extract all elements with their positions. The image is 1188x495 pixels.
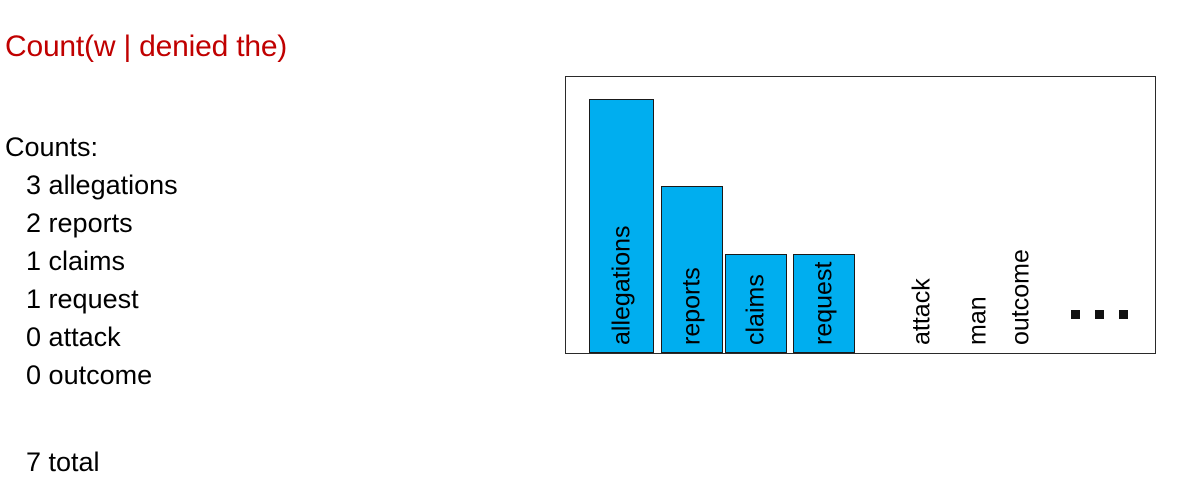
count-row: 0 outcome [5, 356, 178, 394]
count-row: 0 attack [5, 318, 178, 356]
bar-column: request [793, 254, 855, 353]
count-word: request [49, 284, 139, 314]
bar-chart: allegations reports claims request a [565, 76, 1156, 354]
total-count: 7 total [26, 443, 100, 481]
count-value: 2 [26, 208, 41, 238]
bar-label-text: allegations [609, 225, 634, 345]
ellipsis-dot [1119, 310, 1128, 319]
ellipsis-dot [1095, 310, 1104, 319]
bar-label-text: request [812, 262, 837, 345]
counts-panel: Counts: 3 allegations 2 reports 1 claims… [5, 128, 178, 394]
bar-column: reports [661, 186, 723, 353]
bar-label-text: reports [680, 267, 705, 345]
count-word: reports [49, 208, 133, 238]
count-value: 0 [26, 360, 41, 390]
count-value: 1 [26, 246, 41, 276]
ellipsis-icon [1071, 310, 1128, 319]
zero-count-label-text: man [966, 296, 991, 345]
zero-count-label-text: attack [910, 278, 935, 345]
count-row: 2 reports [5, 204, 178, 242]
count-value: 3 [26, 170, 41, 200]
plot-area: allegations reports claims request a [566, 77, 1155, 353]
count-word: outcome [49, 360, 153, 390]
count-row: 3 allegations [5, 166, 178, 204]
bar-label-text: claims [744, 274, 769, 345]
bar-column: claims [725, 254, 787, 353]
count-word: allegations [49, 170, 178, 200]
count-row: 1 claims [5, 242, 178, 280]
page-title: Count(w | denied the) [5, 30, 287, 64]
zero-count-label-text: outcome [1009, 249, 1034, 345]
count-row: 1 request [5, 280, 178, 318]
count-value: 1 [26, 284, 41, 314]
count-word: attack [49, 322, 121, 352]
counts-heading: Counts: [5, 128, 178, 166]
ellipsis-dot [1071, 310, 1080, 319]
count-word: claims [49, 246, 126, 276]
bar-column: allegations [589, 99, 654, 353]
count-value: 0 [26, 322, 41, 352]
